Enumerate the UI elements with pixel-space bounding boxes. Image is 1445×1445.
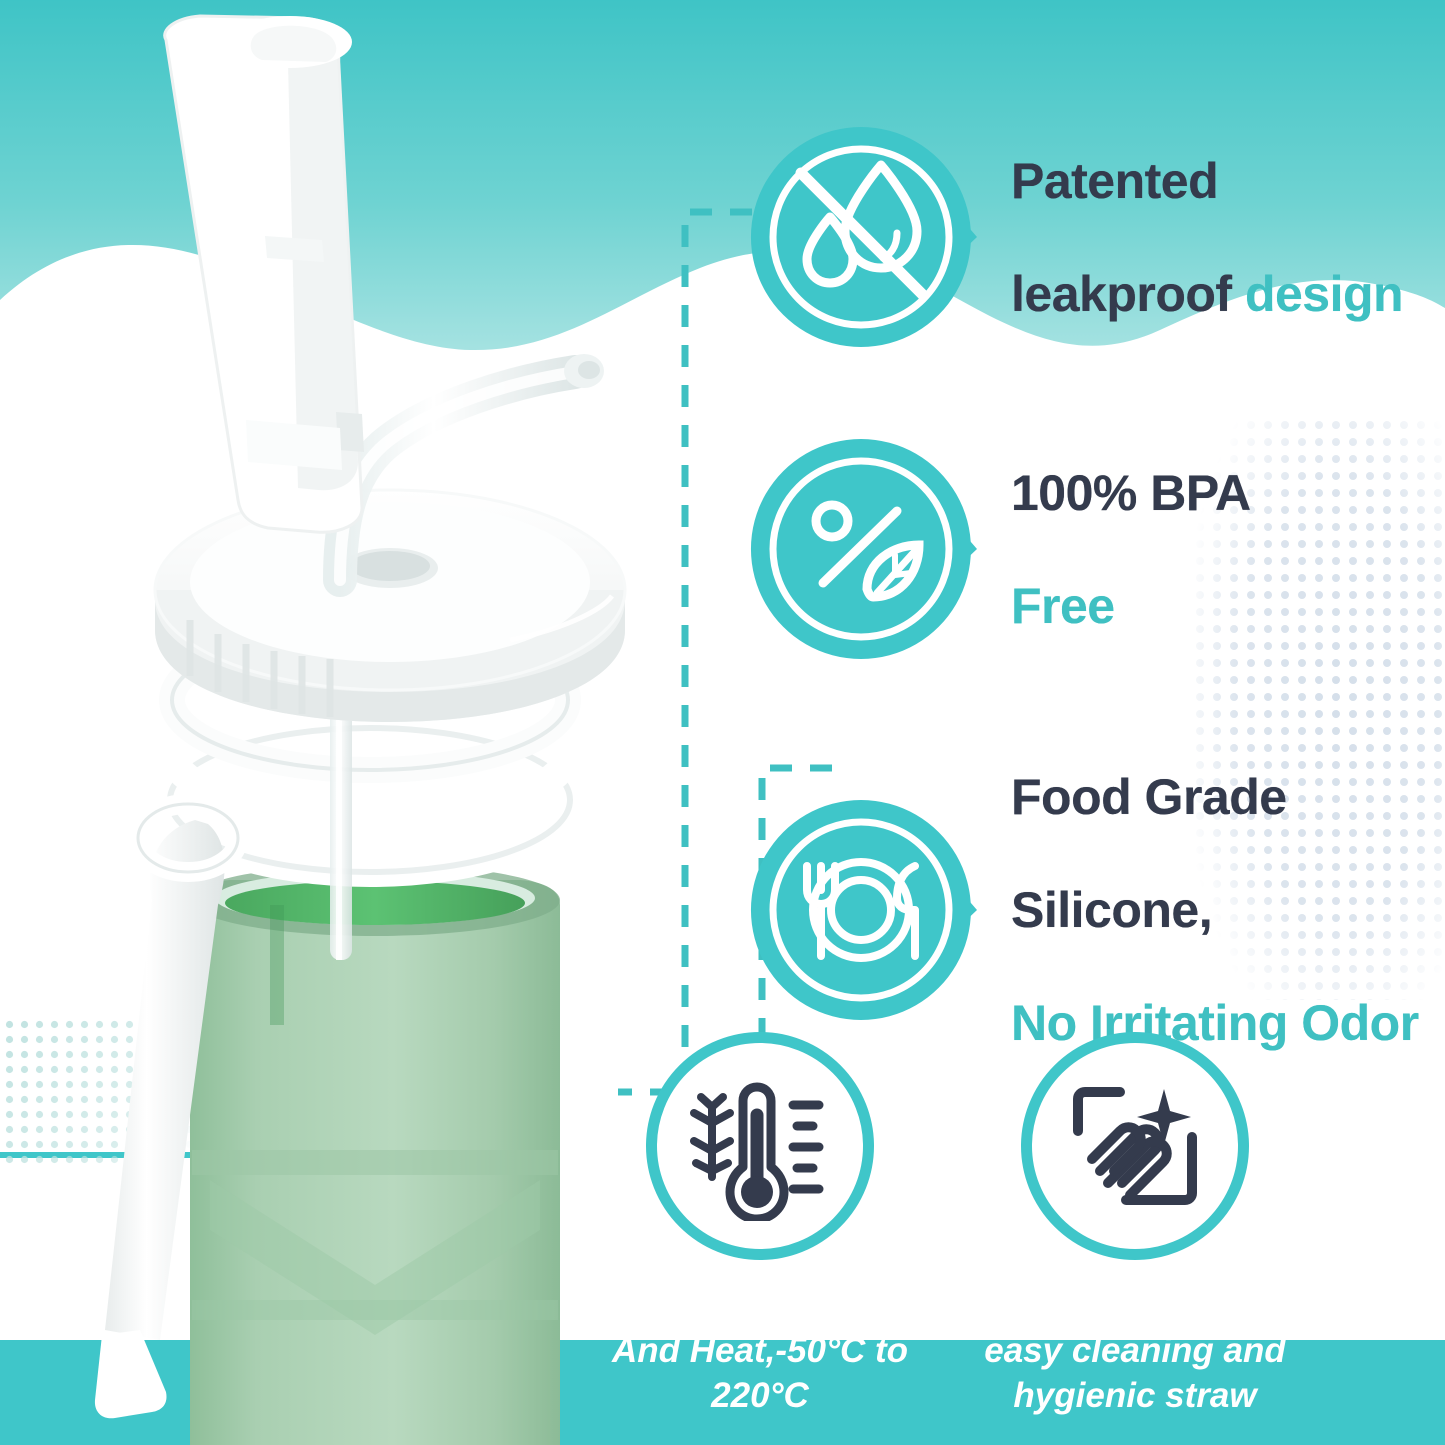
flip-lid-arm — [165, 16, 364, 532]
bottom-caption-wide-mouth: Wide mouth for easy cleaning and hygieni… — [955, 1282, 1315, 1419]
feature-line-2-dark: leakproof — [1011, 266, 1245, 322]
hand-wash-sparkle-icon — [1060, 1071, 1210, 1221]
feature-line-2-accent: design — [1245, 266, 1403, 322]
bottom-caption-temperature: Resistant To Cold And Heat,-50°C to 220°… — [580, 1282, 940, 1419]
feature-line-1: Patented — [1011, 153, 1403, 210]
feature-line-2: Silicone, — [1011, 882, 1419, 939]
feature-line-2: Free — [1011, 578, 1251, 635]
feature-row-bpa-free: 100% BPA Free — [745, 408, 1251, 691]
feature-line-2-accent: Free — [1011, 578, 1115, 634]
icon-bubble-food-grade[interactable] — [745, 794, 977, 1026]
feature-line-1: Food Grade — [1011, 769, 1419, 826]
icon-bubble-leakproof[interactable] — [745, 121, 977, 353]
feature-text-leakproof: Patented leakproof design — [1011, 96, 1403, 379]
infographic-canvas: Patented leakproof design 100% BP — [0, 0, 1445, 1445]
feature-text-bpa-free: 100% BPA Free — [1011, 408, 1251, 691]
icon-circle-wide-mouth[interactable] — [1021, 1032, 1249, 1260]
bottle-lid — [155, 490, 625, 722]
bottle-body — [190, 864, 560, 1445]
feature-line-1: 100% BPA — [1011, 465, 1251, 522]
icon-circle-temperature[interactable] — [646, 1032, 874, 1260]
bottom-feature-wide-mouth: Wide mouth for easy cleaning and hygieni… — [955, 1032, 1315, 1419]
thermometer-snowflake-icon — [685, 1071, 835, 1221]
feature-row-leakproof: Patented leakproof design — [745, 96, 1403, 379]
feature-line-2: leakproof design — [1011, 266, 1403, 323]
bottom-feature-temperature: Resistant To Cold And Heat,-50°C to 220°… — [580, 1032, 940, 1419]
icon-bubble-bpa-free[interactable] — [745, 433, 977, 665]
